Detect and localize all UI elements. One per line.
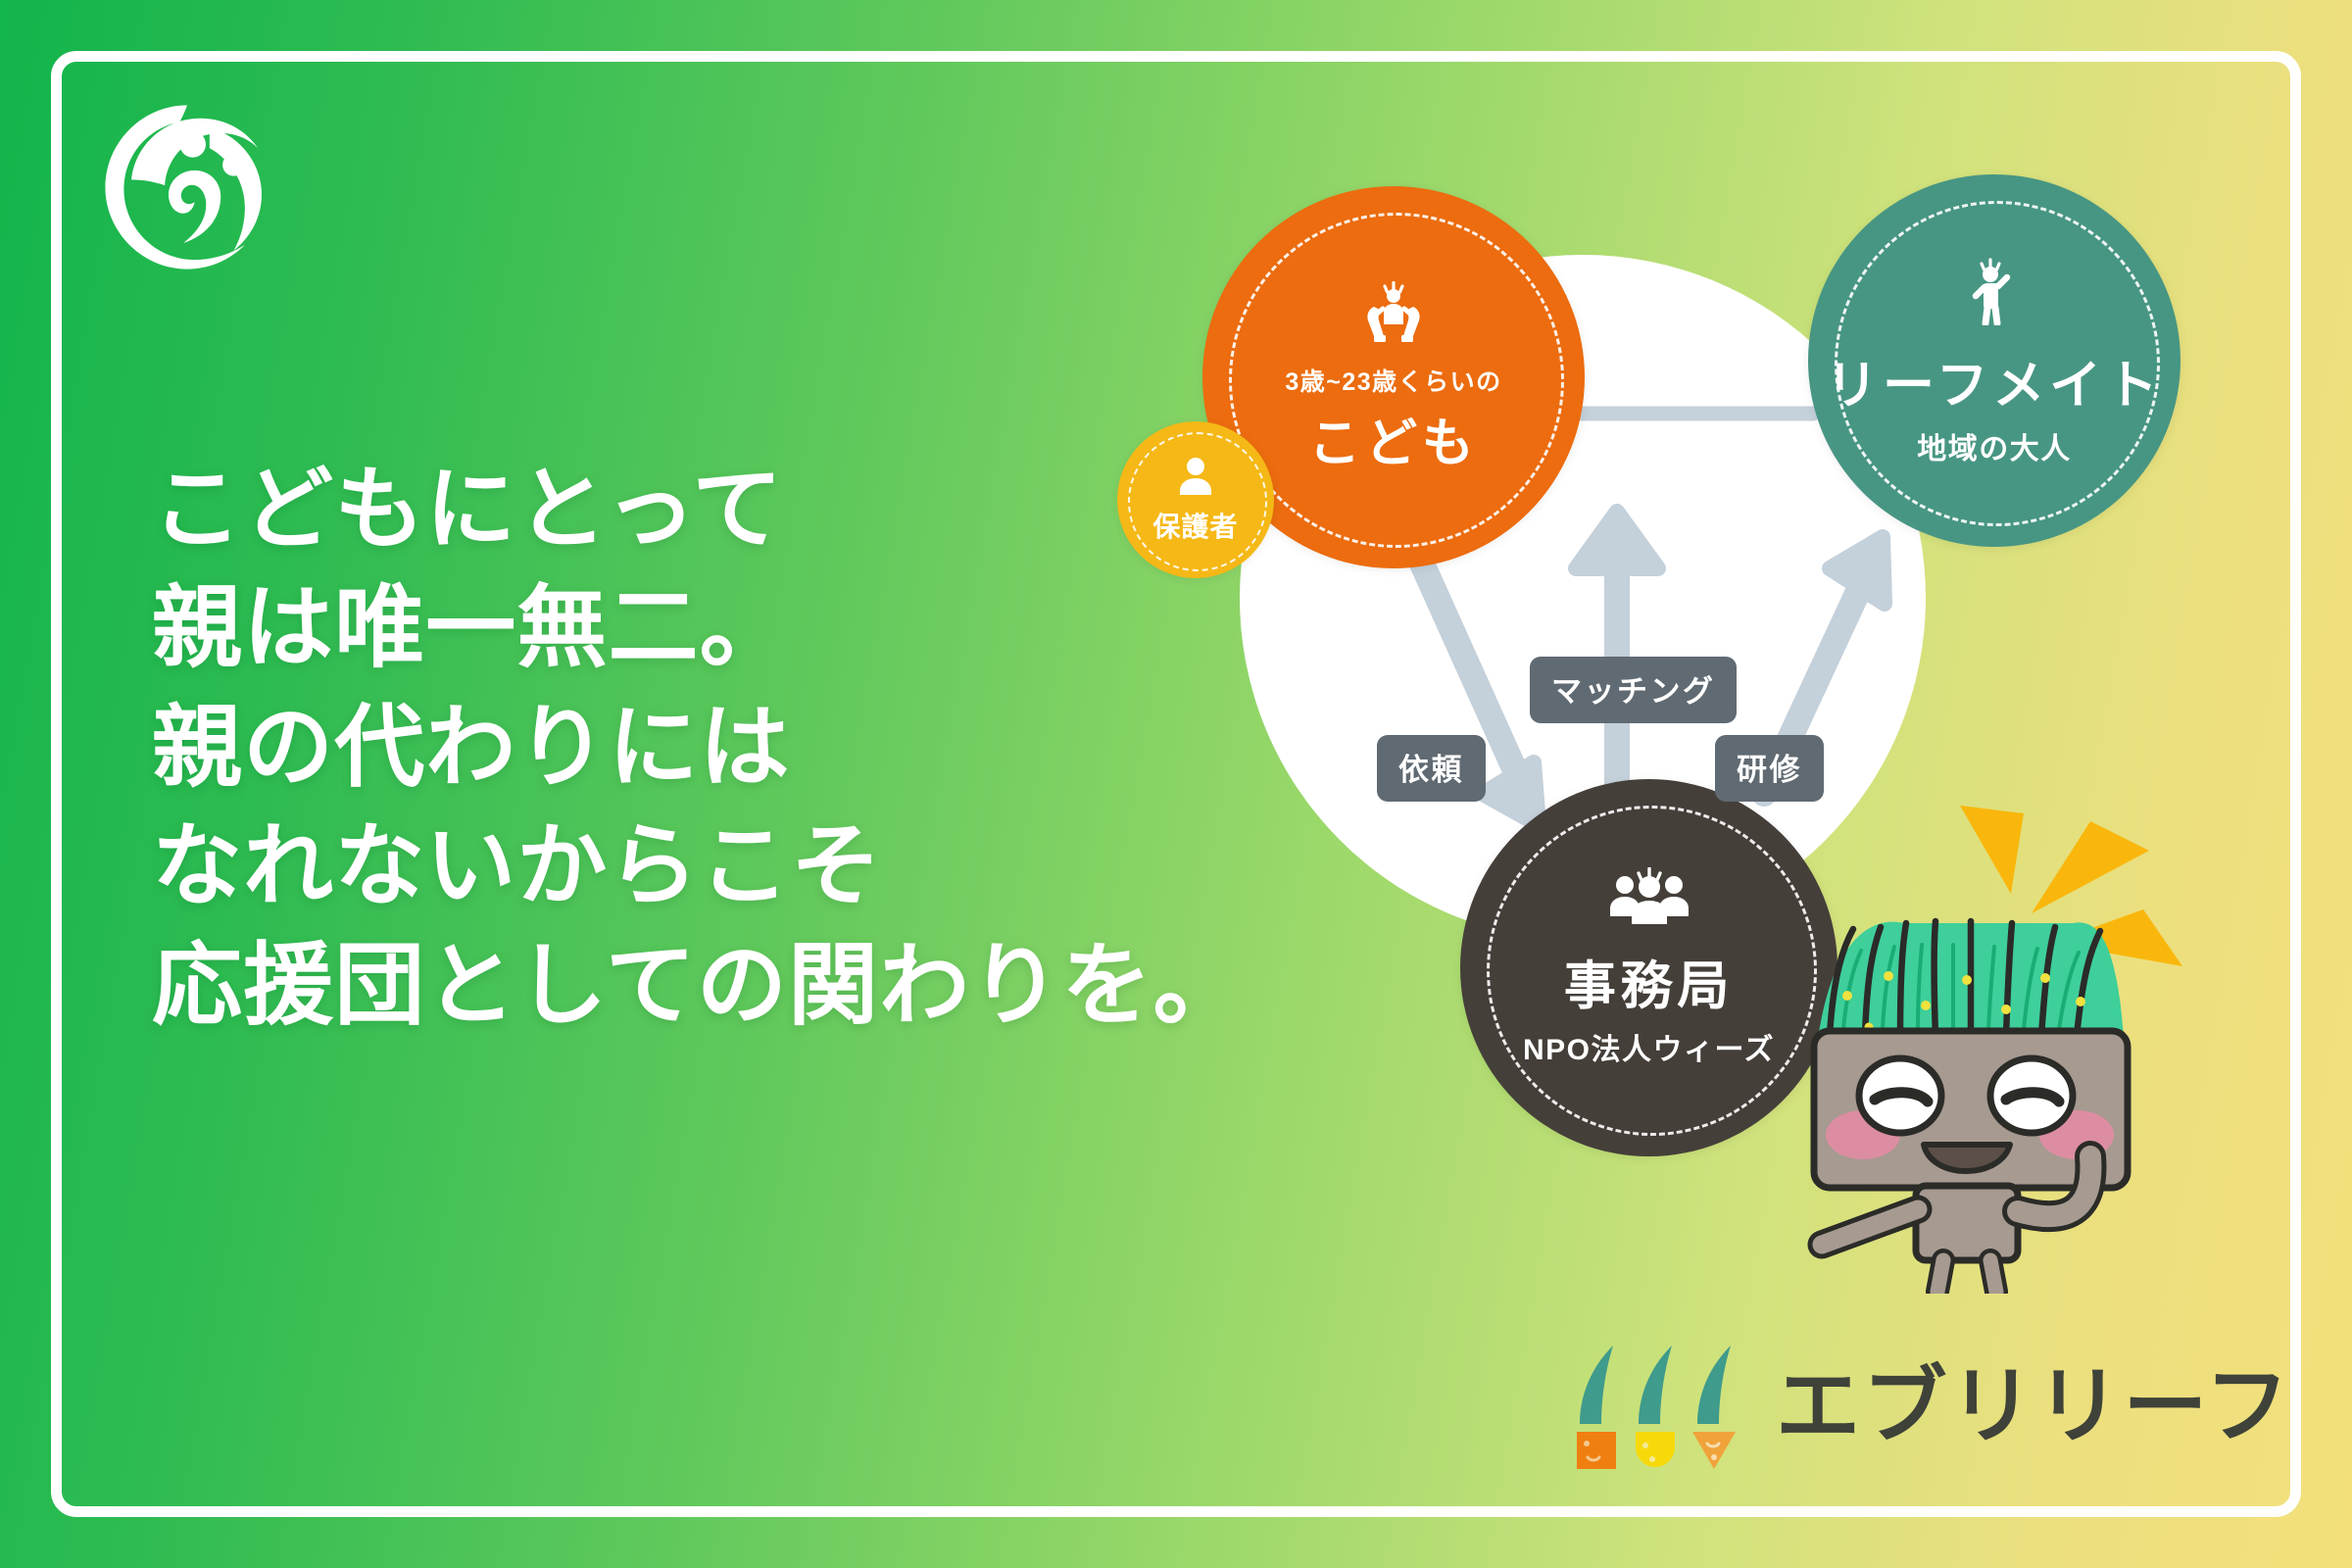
diagram-node-leafmate[interactable]: リーフメイト 地域の大人 <box>1808 174 2180 547</box>
three-leaf-blades-icon <box>1568 1338 1754 1475</box>
face-circle <box>1636 1432 1675 1467</box>
brand-mark-logo <box>94 94 280 280</box>
everyleaf-logo[interactable]: エブリリーフ <box>1568 1333 2274 1480</box>
headline-line-4: なれないからこそ <box>152 808 1245 926</box>
group-of-people-icon <box>1606 867 1692 931</box>
leaf-head-mascot <box>1779 784 2239 1294</box>
node-kodomo-subtitle: 3歳~23歳くらいの <box>1285 363 1501 398</box>
node-hogosha-title: 保護者 <box>1152 506 1238 545</box>
headline-line-3: 親の代わりには <box>152 689 1245 808</box>
page-title: こどもにとって 親は唯一無二。 親の代わりには なれないからこそ 応援団としての… <box>152 451 1245 1046</box>
face-triangle <box>1692 1432 1736 1469</box>
body <box>1916 1186 2018 1260</box>
node-kodomo-title: こども <box>1308 402 1478 476</box>
single-person-icon <box>1177 456 1214 500</box>
node-leafmate-subtitle: 地域の大人 <box>1917 424 2072 467</box>
headline-line-5: 応援団としての関わりを。 <box>152 927 1245 1046</box>
waving-person-icon <box>1967 255 2022 330</box>
label-irai: 依頼 <box>1377 735 1486 802</box>
logo-wordmark: エブリリーフ <box>1776 1364 2291 1448</box>
face-square <box>1577 1432 1616 1469</box>
node-jimukyoku-title: 事務局 <box>1564 945 1734 1019</box>
headline-line-2: 親は唯一無二。 <box>152 569 1245 688</box>
node-jimukyoku-subtitle: NPO法人ウィーズ <box>1523 1025 1775 1068</box>
headline-line-1: こどもにとって <box>152 451 1245 569</box>
child-in-hands-icon <box>1357 279 1430 349</box>
label-matching: マッチング <box>1530 657 1737 723</box>
grass-hair <box>1818 921 2124 1042</box>
diagram-node-hogosha[interactable]: 保護者 <box>1117 421 1274 578</box>
arrow-matching <box>1576 512 1658 794</box>
node-leafmate-title: リーフメイト <box>1826 344 2162 418</box>
